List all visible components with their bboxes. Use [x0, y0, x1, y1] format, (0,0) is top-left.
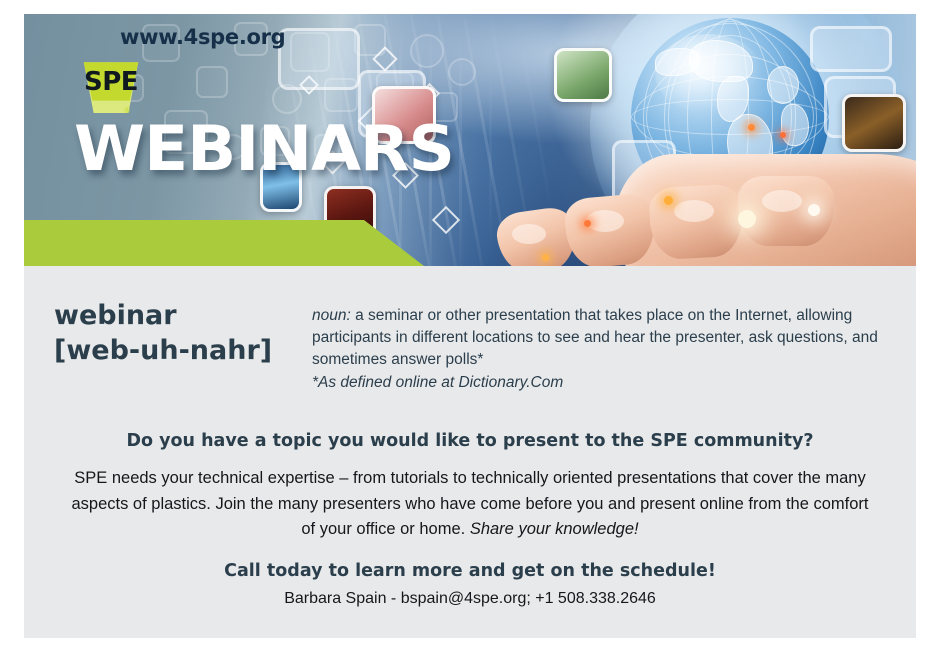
- source-note: *As defined online at Dictionary.Com: [312, 372, 904, 394]
- part-of-speech: noun:: [312, 307, 351, 324]
- url-text[interactable]: www.4spe.org: [120, 25, 285, 49]
- logo-text: SPE: [80, 67, 142, 97]
- finger-ring: [648, 184, 744, 261]
- term-pronunciation: [web-uh-nahr]: [54, 334, 314, 369]
- body-copy: SPE needs your technical expertise – fro…: [70, 466, 870, 543]
- contact-line[interactable]: Barbara Spain - bspain@4spe.org; +1 508.…: [24, 590, 916, 608]
- thumbnail-landscape-green: [554, 48, 612, 102]
- definition-gloss: noun: a seminar or other presentation th…: [312, 305, 904, 394]
- spe-logo: SPE ®: [80, 56, 142, 118]
- term-word: webinar: [54, 299, 314, 334]
- nail-ring: [674, 200, 714, 222]
- nail-middle: [586, 210, 624, 232]
- nail-index: [512, 224, 546, 244]
- schedule-cta: Call today to learn more and get on the …: [24, 561, 916, 581]
- content-card: SPE ® WEBINARS www.4spe.org webinar [web…: [24, 14, 916, 638]
- hand-graphic: [494, 132, 916, 266]
- term-block: webinar [web-uh-nahr]: [54, 299, 314, 368]
- url-bar: [24, 220, 424, 266]
- thumbnail-blank-right: [810, 26, 892, 72]
- topic-question: Do you have a topic you would like to pr…: [24, 431, 916, 451]
- flyer-page: SPE ® WEBINARS www.4spe.org webinar [web…: [0, 0, 940, 660]
- hero-banner: SPE ® WEBINARS www.4spe.org: [24, 14, 916, 266]
- content-area: webinar [web-uh-nahr] noun: a seminar or…: [24, 266, 916, 638]
- body-copy-emphasis: Share your knowledge!: [470, 520, 639, 538]
- nail-pinky: [762, 190, 802, 212]
- banner-wordmark: WEBINARS: [74, 118, 454, 180]
- gloss-text: a seminar or other presentation that tak…: [312, 307, 878, 368]
- thumbnail-blank-top-left: [278, 28, 360, 90]
